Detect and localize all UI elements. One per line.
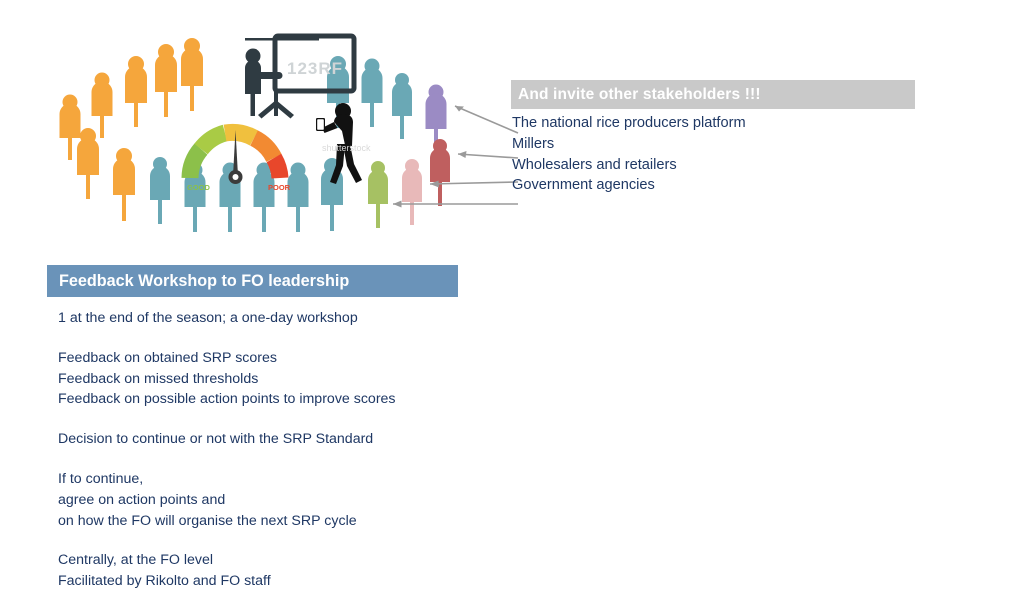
feedback-line: Feedback on missed thresholds [58,369,538,390]
person-orange-5 [181,38,203,111]
orange-crowd-group [60,38,204,221]
arrow-to-purple [455,106,518,133]
feedback-line: on how the FO will organise the next SRP… [58,511,538,532]
stakeholder-illustration: 123RF shutterstock [40,18,520,246]
person-pink-stakeholder [402,159,422,225]
stakeholder-list: The national rice producers platform Mil… [512,113,912,196]
feedback-workshop-banner-label: Feedback Workshop to FO leadership [47,272,349,291]
feedback-workshop-banner: Feedback Workshop to FO leadership [47,265,458,297]
person-orange-7 [113,148,135,221]
performance-gauge-icon: GOOD POOR [187,130,291,192]
feedback-workshop-body: 1 at the end of the season; a one-day wo… [58,308,538,592]
feedback-paragraph: Decision to continue or not with the SRP… [58,429,538,450]
feedback-paragraph: 1 at the end of the season; a one-day wo… [58,308,538,329]
arrow-to-darkred [458,151,518,158]
person-teal-8 [362,59,383,128]
feedback-line: Centrally, at the FO level [58,550,538,571]
stakeholder-list-item: Wholesalers and retailers [512,155,912,176]
person-orange-4 [155,44,177,117]
feedback-line: 1 at the end of the season; a one-day wo… [58,308,538,329]
person-darkred-stakeholder [430,139,450,206]
feedback-paragraph: Centrally, at the FO level Facilitated b… [58,550,538,592]
person-green-stakeholder [368,161,388,228]
watermark-123rf: 123RF [287,59,343,78]
feedback-paragraph: If to continue, agree on action points a… [58,469,538,531]
stakeholder-list-item: Government agencies [512,175,912,196]
feedback-line: agree on action points and [58,490,538,511]
feedback-line: If to continue, [58,469,538,490]
stakeholder-list-item: Millers [512,134,912,155]
gauge-good-label: GOOD [187,183,211,192]
person-orange-2 [92,73,113,139]
stakeholder-list-item: The national rice producers platform [512,113,912,134]
person-teal-1 [150,157,170,224]
watermark-shutterstock: shutterstock [322,143,371,153]
feedback-line: Feedback on obtained SRP scores [58,348,538,369]
stakeholder-banner: And invite other stakeholders !!! [511,80,915,109]
feedback-line: Feedback on possible action points to im… [58,389,538,410]
stakeholder-banner-label: And invite other stakeholders !!! [511,86,761,104]
gauge-poor-label: POOR [268,183,291,192]
feedback-line: Decision to continue or not with the SRP… [58,429,538,450]
feedback-paragraph: Feedback on obtained SRP scores Feedback… [58,348,538,410]
slide-canvas: 123RF shutterstock [0,0,1024,576]
person-teal-5 [288,163,309,233]
feedback-line: Facilitated by Rikolto and FO staff [58,571,538,592]
person-orange-3 [125,56,147,127]
person-teal-9 [392,73,412,139]
person-orange-6 [77,128,99,199]
